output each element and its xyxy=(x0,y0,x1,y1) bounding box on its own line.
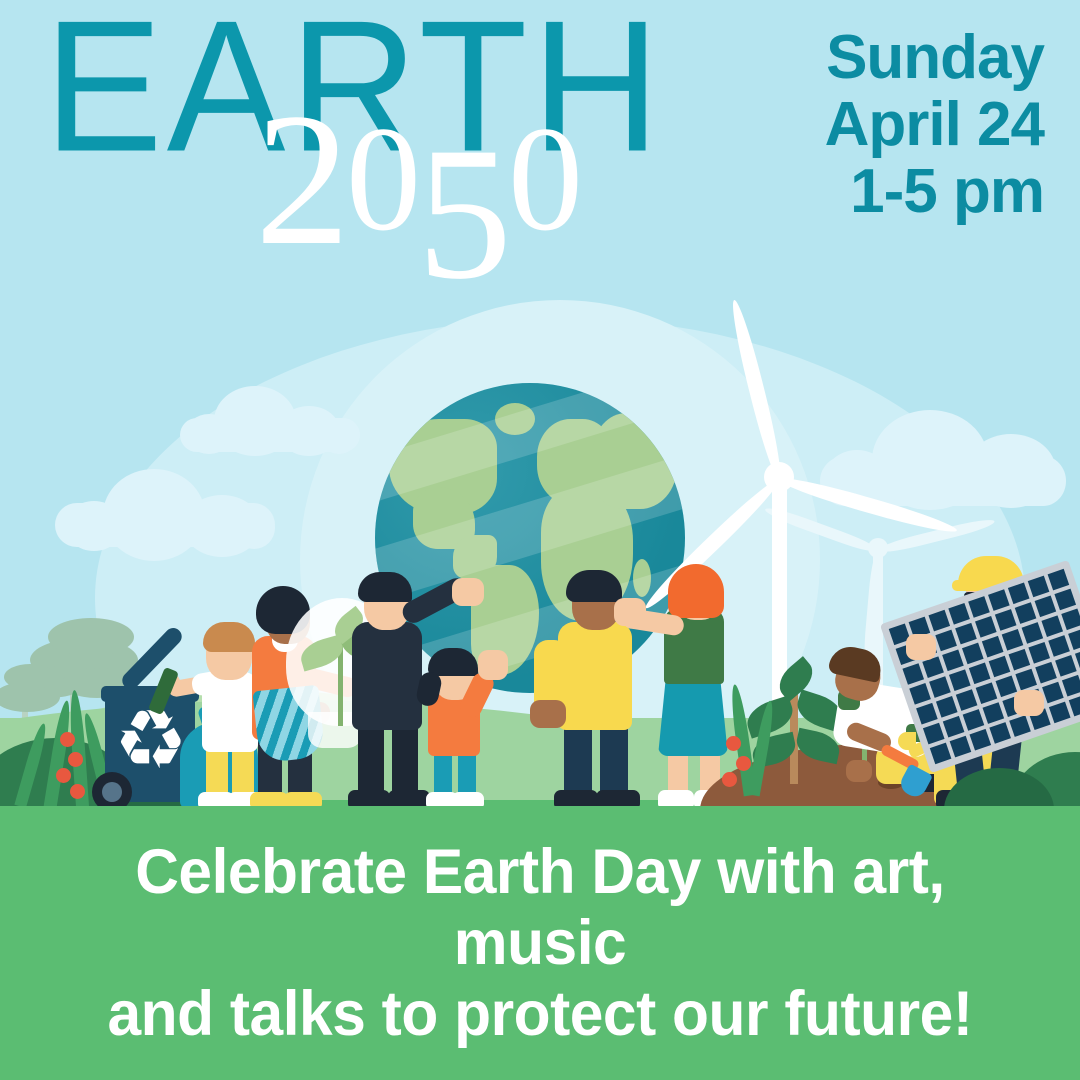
solar-cell xyxy=(969,663,991,685)
solar-cell xyxy=(936,696,958,718)
solar-cell xyxy=(1002,629,1024,651)
solar-cell xyxy=(1048,569,1070,591)
solar-cell xyxy=(943,716,965,738)
solar-cell xyxy=(950,736,972,758)
solar-cell xyxy=(1049,702,1071,724)
solar-cell xyxy=(1061,608,1080,630)
solar-cell xyxy=(976,682,998,704)
earth-day-poster: ♻ xyxy=(0,0,1080,1080)
redhair-shoe-left xyxy=(658,790,694,806)
tagline-line-1: Celebrate Earth Day with art, music xyxy=(50,837,1029,979)
solar-cell xyxy=(1062,675,1080,697)
solar-cell xyxy=(989,656,1011,678)
solar-cell xyxy=(1055,655,1077,677)
solar-cell xyxy=(1022,622,1044,644)
yellowman-torso xyxy=(558,622,632,730)
redhair-hair xyxy=(668,564,724,618)
tagline-line-2: and talks to protect our future! xyxy=(50,979,1029,1050)
solar-cell xyxy=(1009,715,1031,737)
solar-cell xyxy=(930,743,952,765)
cloud-right xyxy=(820,400,1065,505)
worker-hand-left xyxy=(906,634,936,660)
solar-cell xyxy=(989,722,1011,744)
solar-cell xyxy=(1068,628,1080,650)
solar-cell xyxy=(1035,662,1057,684)
solar-cell xyxy=(1035,595,1057,617)
boy-hair xyxy=(203,622,255,652)
recycle-symbol: ♻ xyxy=(114,700,188,782)
solar-cell xyxy=(988,589,1010,611)
solar-cell xyxy=(1015,602,1037,624)
solar-cell xyxy=(963,709,985,731)
year-digit-0b: 0 xyxy=(508,84,579,274)
solar-cell xyxy=(975,616,997,638)
bulbwoman-shoe-left xyxy=(250,792,288,806)
solar-cell xyxy=(949,669,971,691)
solar-cell xyxy=(1041,615,1063,637)
redhair-hand xyxy=(614,598,646,626)
girl-hair xyxy=(428,648,478,676)
solar-cell xyxy=(1048,635,1070,657)
solar-cell xyxy=(909,683,931,705)
planter-hand xyxy=(846,760,872,782)
berry-2 xyxy=(68,752,83,767)
solar-cell xyxy=(1054,589,1076,611)
solar-cell xyxy=(923,723,945,745)
solar-cell xyxy=(1042,682,1064,704)
title-year: 2050 xyxy=(255,85,579,288)
solar-cell xyxy=(935,630,957,652)
navyman-torso xyxy=(352,622,422,730)
year-digit-5: 5 xyxy=(417,119,508,309)
solar-cell xyxy=(928,610,950,632)
solar-cell xyxy=(929,676,951,698)
girl-hand xyxy=(478,650,508,680)
year-digit-0a: 0 xyxy=(346,84,417,274)
event-date-block: Sunday April 24 1-5 pm xyxy=(825,24,1044,225)
solar-cell xyxy=(968,596,990,618)
date-line-date: April 24 xyxy=(825,91,1044,158)
solar-cell xyxy=(1008,582,1030,604)
yellowman-hair xyxy=(566,570,622,602)
watering-can-nozzle xyxy=(898,732,916,750)
bulbwoman-shoe-right xyxy=(284,792,322,806)
navyman-hand xyxy=(452,578,484,606)
solar-cell xyxy=(1075,648,1080,670)
girl-shoe-right xyxy=(452,792,484,806)
navyman-shoe-left xyxy=(348,790,390,806)
yellowman-shoe-right xyxy=(596,790,640,806)
berry-right-3 xyxy=(722,772,737,787)
solar-cell xyxy=(962,643,984,665)
solar-cell xyxy=(995,609,1017,631)
solar-cell xyxy=(902,663,924,685)
tagline-banner: Celebrate Earth Day with art, music and … xyxy=(0,806,1080,1080)
solar-cell xyxy=(948,603,970,625)
berry-right-1 xyxy=(726,736,741,751)
berry-right-2 xyxy=(736,756,751,771)
date-line-time: 1-5 pm xyxy=(825,158,1044,225)
solar-cell xyxy=(982,636,1004,658)
solar-cell xyxy=(942,650,964,672)
yellowman-shoe-left xyxy=(554,790,598,806)
worker-hand-right xyxy=(1014,690,1044,716)
solar-cell xyxy=(983,702,1005,724)
berry-3 xyxy=(56,768,71,783)
berry-1 xyxy=(60,732,75,747)
date-line-day: Sunday xyxy=(825,24,1044,91)
solar-cell xyxy=(996,676,1018,698)
berry-4 xyxy=(70,784,85,799)
solar-cell xyxy=(969,729,991,751)
year-digit-2: 2 xyxy=(255,75,346,285)
solar-cell xyxy=(1028,576,1050,598)
solar-cell xyxy=(1015,669,1037,691)
yellowman-hand xyxy=(530,700,566,728)
bulb-plant-stem xyxy=(338,646,343,726)
navyman-hair xyxy=(358,572,412,602)
solar-cell xyxy=(1069,695,1080,717)
tagline-text: Celebrate Earth Day with art, music and … xyxy=(22,837,1059,1050)
solar-cell xyxy=(956,689,978,711)
cloud-left xyxy=(55,455,275,547)
redhair-skirt xyxy=(658,672,728,756)
solar-cell xyxy=(916,703,938,725)
recycling-bin-wheel-hub xyxy=(102,782,122,802)
solar-cell xyxy=(1009,649,1031,671)
cloud-upper xyxy=(180,378,360,450)
solar-cell xyxy=(1028,642,1050,664)
navyman-shoe-right xyxy=(388,790,430,806)
solar-cell xyxy=(955,623,977,645)
